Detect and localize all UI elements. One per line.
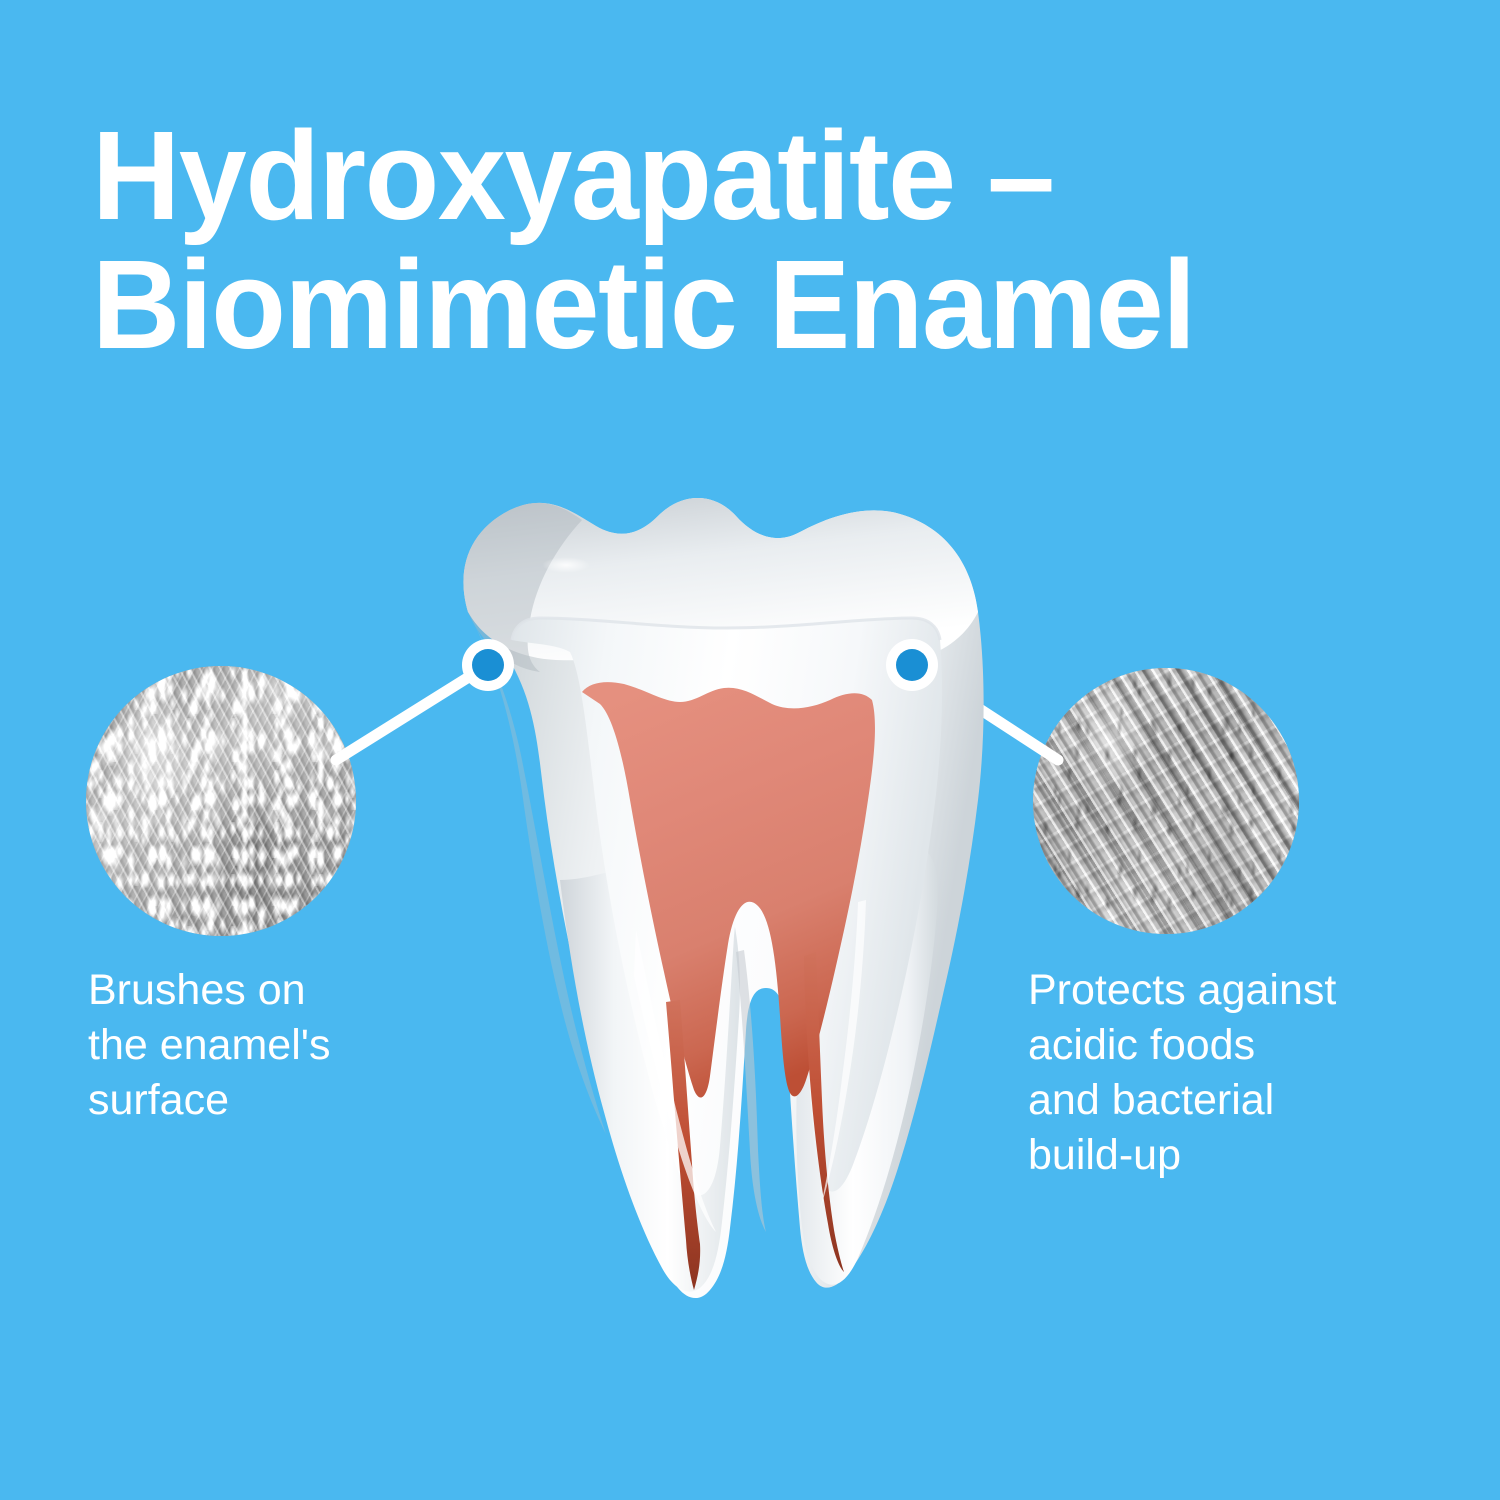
callout-marker-left[interactable]: [462, 639, 514, 691]
callout-caption-right: Protects against acidic foods and bacter…: [1028, 963, 1428, 1183]
callout-marker-right[interactable]: [886, 639, 938, 691]
crown-specular-highlight: [542, 557, 590, 573]
infographic-canvas: Hydroxyapatite – Biomimetic Enamel: [0, 0, 1500, 1500]
callout-dot-left-icon[interactable]: [472, 649, 504, 681]
tooth-cross-section-illustration: [0, 0, 1500, 1500]
connector-line-left: [336, 665, 488, 760]
callout-caption-left: Brushes on the enamel's surface: [88, 963, 448, 1128]
callout-dot-right-icon[interactable]: [896, 649, 928, 681]
